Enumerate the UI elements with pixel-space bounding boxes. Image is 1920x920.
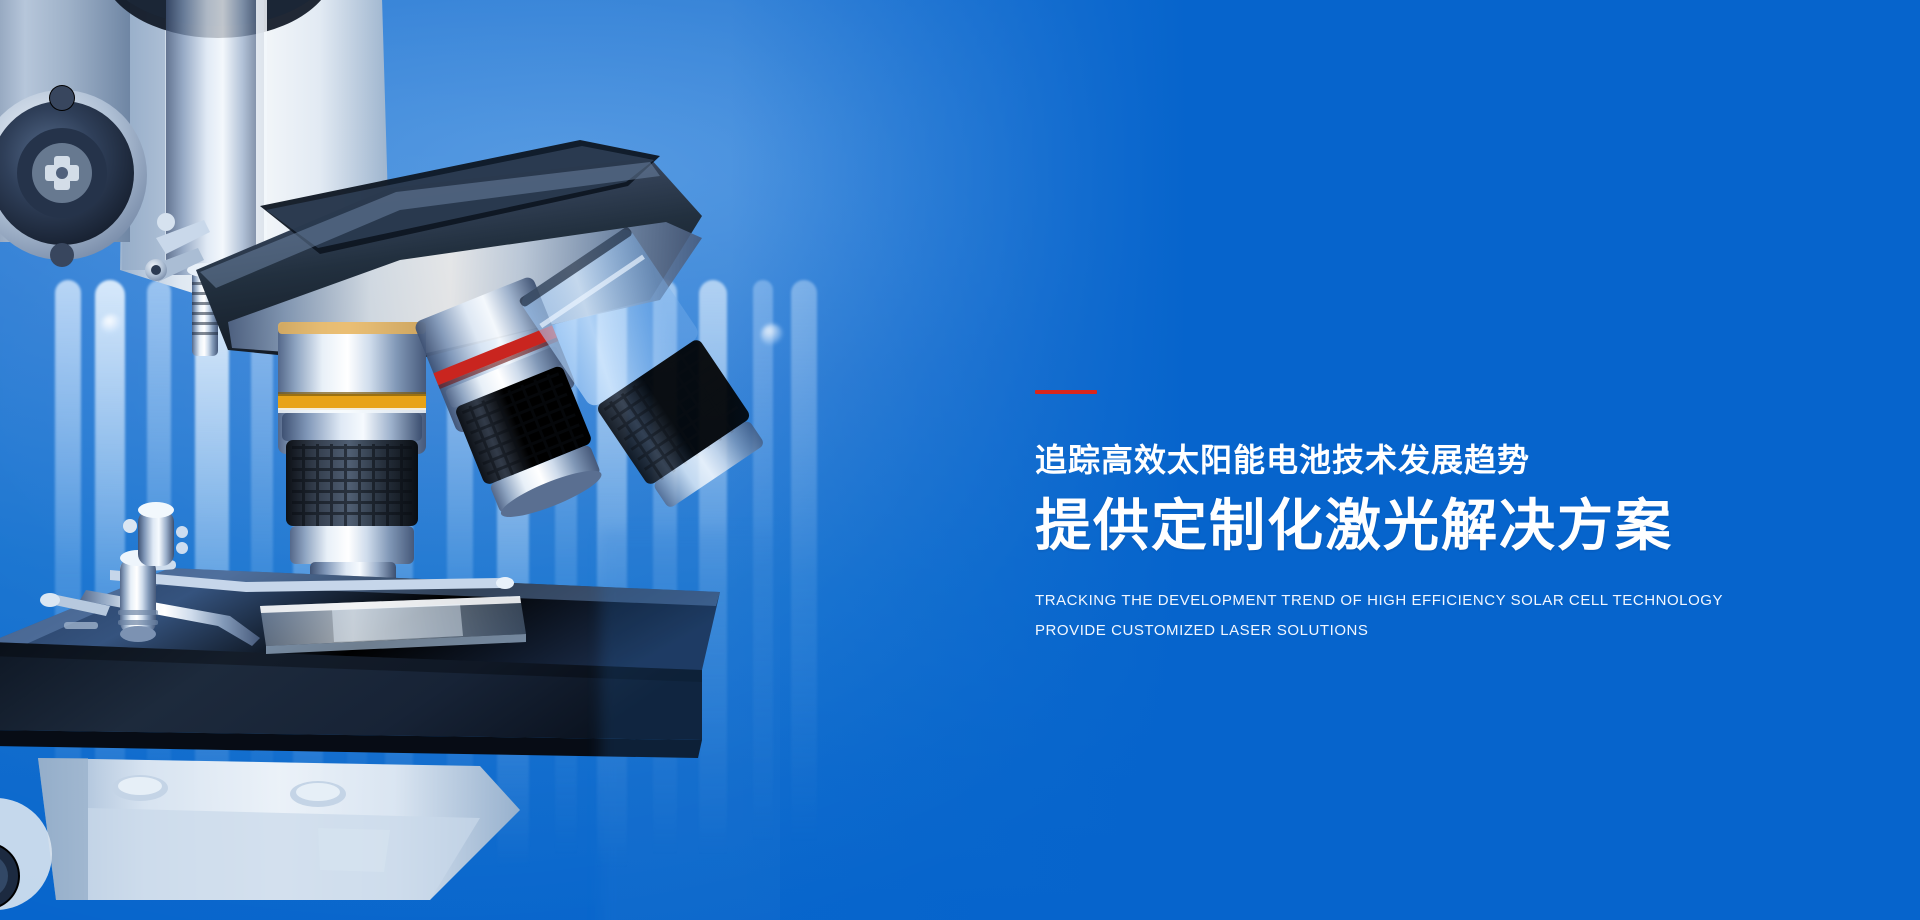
hero-copy: 追踪高效太阳能电池技术发展趋势 提供定制化激光解决方案 TRACKING THE… [1035, 390, 1865, 638]
accent-rule [1035, 390, 1097, 394]
main-headline-cn: 提供定制化激光解决方案 [1035, 494, 1865, 559]
hero-banner: 追踪高效太阳能电池技术发展趋势 提供定制化激光解决方案 TRACKING THE… [0, 0, 1920, 920]
sub-headline-en-line2: PROVIDE CUSTOMIZED LASER SOLUTIONS [1035, 623, 1865, 638]
sub-headline-cn: 追踪高效太阳能电池技术发展趋势 [1035, 442, 1865, 480]
sub-headline-en-line1: TRACKING THE DEVELOPMENT TREND OF HIGH E… [1035, 593, 1865, 608]
